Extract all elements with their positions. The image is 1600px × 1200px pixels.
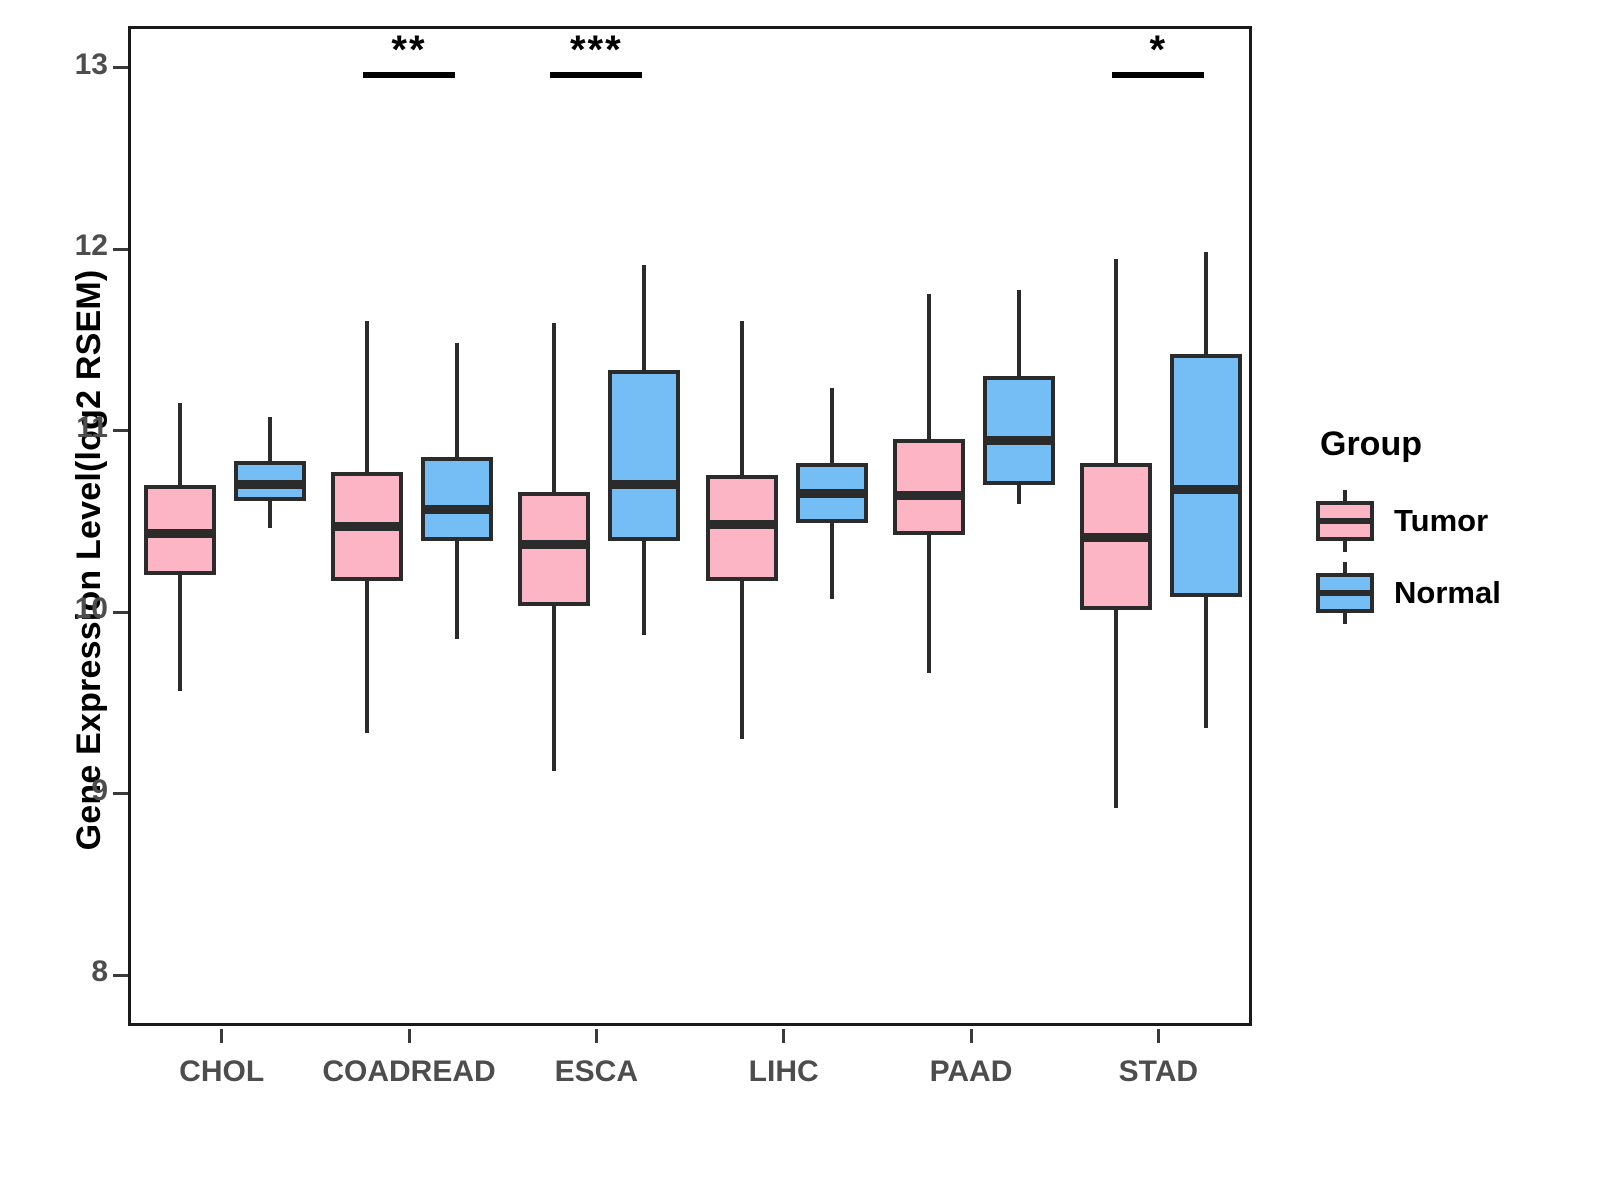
median-line (144, 529, 216, 538)
box-iqr (608, 370, 680, 541)
median-line (1170, 485, 1242, 494)
legend-swatch-normal (1316, 562, 1374, 624)
whisker-lower (1114, 610, 1118, 808)
legend-title: Group (1320, 425, 1596, 464)
median-line (1080, 533, 1152, 542)
whisker-lower (642, 541, 646, 635)
median-line (706, 520, 778, 529)
legend-whisker-top (1343, 562, 1347, 573)
legend-item-normal[interactable]: Normal (1316, 562, 1596, 624)
y-tick-label: 8 (0, 955, 108, 989)
y-tick-mark (113, 792, 128, 795)
whisker-lower (552, 606, 556, 771)
y-tick-mark (113, 974, 128, 977)
x-tick-label-paad: PAAD (930, 1055, 1013, 1089)
y-tick-label: 12 (0, 229, 108, 263)
whisker-upper (1017, 290, 1021, 375)
x-tick-label-lihc: LIHC (749, 1055, 819, 1089)
legend-whisker-bottom (1343, 541, 1347, 552)
x-tick-mark (970, 1029, 973, 1043)
median-line (796, 489, 868, 498)
y-tick-mark (113, 611, 128, 614)
whisker-upper (642, 265, 646, 370)
y-tick-mark (113, 429, 128, 432)
legend-label: Normal (1394, 575, 1501, 611)
whisker-lower (830, 523, 834, 599)
whisker-upper (1204, 252, 1208, 354)
whisker-upper (268, 417, 272, 461)
median-line (234, 480, 306, 489)
whisker-upper (178, 403, 182, 485)
x-tick-label-stad: STAD (1119, 1055, 1198, 1089)
box-iqr (421, 457, 493, 540)
legend-label: Tumor (1394, 503, 1488, 539)
box-iqr (893, 439, 965, 535)
significance-stars-esca: *** (570, 30, 623, 70)
y-tick-mark (113, 66, 128, 69)
y-tick-label: 9 (0, 774, 108, 808)
whisker-lower (178, 575, 182, 691)
y-tick-label: 11 (0, 411, 108, 445)
whisker-lower (1017, 485, 1021, 505)
legend-median-line (1316, 590, 1374, 596)
median-line (893, 491, 965, 500)
significance-stars-coadread: ** (391, 30, 426, 70)
whisker-upper (927, 294, 931, 439)
legend-median-line (1316, 518, 1374, 524)
whisker-upper (365, 321, 369, 472)
legend: Group TumorNormal (1316, 425, 1596, 634)
whisker-lower (927, 535, 931, 673)
x-tick-label-coadread: COADREAD (322, 1055, 495, 1089)
legend-item-tumor[interactable]: Tumor (1316, 490, 1596, 552)
median-line (608, 480, 680, 489)
box-iqr (1170, 354, 1242, 597)
y-tick-label: 13 (0, 48, 108, 82)
significance-bar-esca (550, 72, 642, 78)
box-iqr (983, 376, 1055, 485)
whisker-upper (1114, 259, 1118, 462)
x-tick-label-esca: ESCA (555, 1055, 638, 1089)
x-tick-mark (1157, 1029, 1160, 1043)
whisker-upper (455, 343, 459, 457)
significance-stars-stad: * (1150, 30, 1168, 70)
median-line (518, 540, 590, 549)
whisker-lower (365, 581, 369, 733)
legend-entries: TumorNormal (1316, 490, 1596, 624)
y-tick-mark (113, 248, 128, 251)
x-tick-mark (782, 1029, 785, 1043)
whisker-lower (268, 501, 272, 528)
significance-bar-coadread (363, 72, 455, 78)
median-line (421, 505, 493, 514)
x-tick-mark (220, 1029, 223, 1043)
x-tick-mark (408, 1029, 411, 1043)
plot-panel (128, 26, 1252, 1026)
whisker-lower (1204, 597, 1208, 728)
legend-whisker-bottom (1343, 613, 1347, 624)
legend-swatch-tumor (1316, 490, 1374, 552)
significance-bar-stad (1112, 72, 1204, 78)
y-tick-label: 10 (0, 592, 108, 626)
boxplot-figure: Gene Expression Level(log2 RSEM) 8910111… (0, 0, 1600, 1200)
median-line (983, 436, 1055, 445)
box-iqr (518, 492, 590, 606)
x-tick-mark (595, 1029, 598, 1043)
whisker-lower (740, 581, 744, 739)
whisker-lower (455, 541, 459, 639)
whisker-upper (740, 321, 744, 475)
median-line (331, 522, 403, 531)
whisker-upper (552, 323, 556, 492)
x-tick-label-chol: CHOL (179, 1055, 264, 1089)
legend-whisker-top (1343, 490, 1347, 501)
whisker-upper (830, 388, 834, 462)
